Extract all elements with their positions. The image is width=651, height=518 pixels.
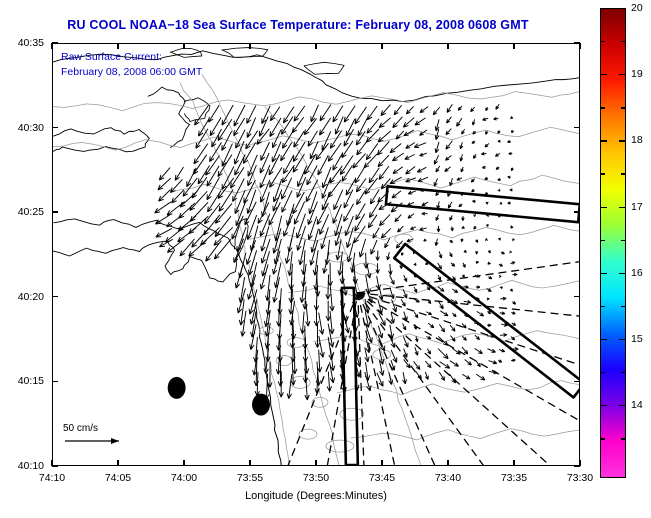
figure-title: RU COOL NOAA−18 Sea Surface Temperature:… bbox=[0, 18, 596, 32]
current-vector bbox=[435, 239, 438, 246]
current-vector bbox=[501, 252, 505, 254]
current-vector bbox=[390, 275, 394, 284]
current-vector bbox=[405, 154, 415, 159]
shipping-lane-dashed-7 bbox=[358, 293, 445, 465]
current-vector bbox=[294, 131, 304, 147]
current-vector bbox=[487, 298, 489, 300]
current-vector bbox=[498, 130, 500, 133]
current-vector bbox=[511, 312, 515, 314]
current-vector bbox=[248, 250, 256, 275]
current-vector bbox=[371, 240, 377, 254]
current-vector bbox=[508, 202, 511, 204]
current-vector bbox=[308, 131, 317, 146]
current-vector bbox=[448, 202, 452, 208]
current-vector bbox=[379, 118, 390, 128]
current-vector bbox=[281, 117, 293, 135]
current-vector bbox=[472, 189, 475, 192]
y-axis-label: 40:25 bbox=[0, 206, 44, 218]
current-vector bbox=[269, 202, 280, 225]
current-vector bbox=[420, 153, 427, 156]
current-vector bbox=[320, 104, 331, 120]
current-vector bbox=[463, 263, 465, 268]
x-axis-tick bbox=[513, 43, 514, 49]
current-vector bbox=[461, 239, 463, 242]
x-axis-tick bbox=[579, 43, 580, 49]
current-vector bbox=[439, 372, 444, 380]
current-vector bbox=[450, 325, 455, 331]
current-vector bbox=[406, 167, 415, 174]
current-vector bbox=[459, 204, 462, 207]
current-vector bbox=[488, 250, 490, 253]
current-vector bbox=[450, 361, 459, 367]
current-vector bbox=[239, 299, 244, 325]
current-vector bbox=[439, 251, 442, 258]
current-vector bbox=[422, 212, 428, 215]
current-vector bbox=[311, 105, 319, 122]
current-vector bbox=[406, 143, 415, 149]
colorbar-minor-tick bbox=[601, 372, 605, 373]
current-vector bbox=[416, 371, 422, 378]
current-vector bbox=[378, 155, 389, 167]
current-vector bbox=[487, 289, 492, 292]
current-vector bbox=[244, 180, 255, 203]
current-vector bbox=[260, 264, 268, 289]
x-axis-tick bbox=[381, 43, 382, 49]
current-vector bbox=[308, 216, 316, 239]
colorbar-minor-tick bbox=[601, 173, 605, 174]
current-vector bbox=[236, 130, 245, 148]
current-vector bbox=[445, 167, 451, 172]
current-vector bbox=[450, 215, 453, 220]
current-vector bbox=[460, 154, 463, 161]
current-vector bbox=[433, 107, 440, 115]
current-vector bbox=[499, 349, 505, 352]
current-vector bbox=[512, 323, 516, 326]
current-vector bbox=[344, 106, 355, 122]
current-vector bbox=[487, 349, 495, 353]
current-vector bbox=[342, 165, 352, 181]
shoal-contour-1 bbox=[312, 397, 328, 407]
current-vector bbox=[410, 227, 415, 230]
current-vector bbox=[485, 143, 489, 147]
colorbar-label: 18 bbox=[631, 134, 643, 146]
current-vector bbox=[406, 106, 413, 114]
x-axis-label: 73:40 bbox=[435, 472, 461, 484]
current-vector bbox=[369, 203, 378, 218]
current-vector bbox=[408, 191, 415, 194]
current-vector bbox=[389, 264, 393, 275]
colorbar-minor-tick bbox=[601, 306, 605, 307]
current-vector bbox=[261, 226, 269, 251]
colorbar-tick bbox=[601, 273, 607, 274]
current-vector bbox=[462, 275, 464, 278]
colorbar-minor-tick bbox=[621, 41, 625, 42]
current-vector bbox=[379, 214, 390, 225]
current-vector bbox=[428, 323, 434, 328]
current-vector bbox=[328, 337, 333, 360]
colorbar-tick bbox=[601, 8, 607, 9]
colorbar-label: 20 bbox=[631, 2, 643, 14]
current-vector bbox=[156, 228, 172, 237]
current-vector bbox=[446, 129, 451, 135]
colorbar-tick bbox=[619, 405, 625, 406]
colorbar-label: 16 bbox=[631, 267, 643, 279]
current-vector bbox=[496, 167, 499, 170]
current-vector bbox=[426, 312, 431, 315]
current-vector bbox=[187, 168, 196, 187]
current-vector bbox=[356, 178, 366, 192]
current-vector bbox=[509, 152, 513, 154]
current-vector bbox=[178, 216, 196, 231]
x-axis-title: Longitude (Degrees:Minutes) bbox=[52, 490, 580, 502]
current-vector bbox=[486, 107, 488, 111]
current-vector bbox=[167, 215, 183, 227]
current-vector bbox=[460, 142, 463, 149]
current-vector bbox=[471, 107, 475, 112]
colorbar-minor-tick bbox=[621, 438, 625, 439]
current-vector bbox=[356, 204, 366, 220]
current-vector bbox=[358, 118, 367, 136]
current-vector bbox=[321, 227, 328, 249]
current-vector bbox=[401, 299, 405, 306]
y-axis-title-wrap: Latitude (Degrees:Minutes) bbox=[0, 135, 144, 155]
current-vector bbox=[403, 323, 406, 330]
current-vector bbox=[364, 154, 377, 168]
x-axis-tick bbox=[249, 43, 250, 49]
current-vector bbox=[427, 349, 430, 354]
colorbar-tick bbox=[601, 207, 607, 208]
current-vector bbox=[396, 131, 404, 139]
current-vector bbox=[485, 238, 487, 240]
colorbar-tick bbox=[619, 207, 625, 208]
current-vector bbox=[273, 228, 281, 253]
current-vector bbox=[512, 273, 517, 276]
harbor-island bbox=[184, 98, 210, 122]
current-vector bbox=[377, 141, 389, 155]
y-axis-tick bbox=[52, 211, 58, 212]
radar-station-marker-0 bbox=[168, 377, 186, 399]
current-vector bbox=[389, 372, 393, 384]
current-vector bbox=[436, 166, 440, 172]
current-vector bbox=[426, 336, 431, 339]
current-vector bbox=[414, 361, 420, 369]
current-vector bbox=[435, 142, 439, 153]
current-vector bbox=[471, 179, 475, 182]
current-vector bbox=[499, 264, 503, 266]
bathymetry-contour-2 bbox=[265, 107, 421, 465]
colorbar-label: 15 bbox=[631, 333, 643, 345]
hudson-arthurkill-coast bbox=[148, 87, 189, 147]
y-axis-label: 40:20 bbox=[0, 291, 44, 303]
current-vector bbox=[476, 261, 479, 263]
current-vector bbox=[378, 326, 382, 338]
current-vector bbox=[306, 301, 310, 326]
current-vector bbox=[461, 167, 464, 172]
current-vector bbox=[261, 239, 270, 263]
map-plot-area: Raw Surface Current: February 08, 2008 0… bbox=[52, 43, 580, 466]
x-axis-tick bbox=[513, 460, 514, 466]
colorbar-label: 17 bbox=[631, 201, 643, 213]
x-axis-label: 73:45 bbox=[369, 472, 395, 484]
shipping-lane-dashed-8 bbox=[358, 293, 373, 465]
y-axis-tick bbox=[574, 296, 580, 297]
current-vector bbox=[330, 311, 334, 334]
current-vector bbox=[403, 372, 407, 384]
current-vector bbox=[235, 154, 245, 175]
current-vector bbox=[293, 192, 305, 214]
current-vector bbox=[155, 202, 171, 213]
current-vector bbox=[451, 227, 453, 231]
y-axis-tick bbox=[52, 381, 58, 382]
y-axis-tick bbox=[52, 465, 58, 466]
current-vector bbox=[365, 372, 371, 391]
current-vector bbox=[482, 166, 486, 168]
shoal-contour-9 bbox=[395, 234, 413, 244]
current-vector bbox=[511, 359, 515, 361]
current-vector bbox=[472, 141, 475, 144]
current-vector bbox=[498, 360, 501, 363]
current-vector bbox=[283, 107, 293, 123]
current-vector bbox=[446, 141, 452, 149]
current-vector bbox=[385, 238, 390, 248]
current-vector bbox=[511, 168, 513, 171]
x-axis-label: 73:30 bbox=[567, 472, 593, 484]
current-vector bbox=[489, 361, 497, 364]
current-vector bbox=[500, 202, 502, 204]
sst-current-map-figure: RU COOL NOAA−18 Sea Surface Temperature:… bbox=[0, 0, 651, 518]
current-vector bbox=[390, 288, 394, 299]
current-vector bbox=[447, 117, 452, 123]
current-vector bbox=[438, 337, 447, 346]
current-vector bbox=[317, 203, 328, 224]
current-vector bbox=[261, 142, 270, 160]
current-vector bbox=[483, 118, 488, 121]
current-vector bbox=[464, 250, 467, 252]
shoal-contour-11 bbox=[287, 338, 305, 348]
current-vector bbox=[427, 287, 430, 291]
current-vector bbox=[394, 105, 401, 115]
y-axis-tick bbox=[574, 127, 580, 128]
y-axis-tick bbox=[574, 381, 580, 382]
current-vector bbox=[464, 286, 469, 289]
current-vector bbox=[319, 313, 324, 335]
current-vector bbox=[381, 228, 390, 238]
current-vector bbox=[457, 178, 462, 180]
current-vector bbox=[415, 336, 418, 342]
x-axis-tick bbox=[183, 460, 184, 466]
colorbar-tick bbox=[619, 273, 625, 274]
current-vector bbox=[486, 202, 489, 204]
current-vector bbox=[440, 311, 448, 316]
current-vector bbox=[403, 289, 407, 298]
current-vector bbox=[414, 287, 417, 292]
colorbar-tick bbox=[619, 74, 625, 75]
current-vector bbox=[243, 142, 255, 163]
current-vector bbox=[195, 105, 209, 125]
current-vector bbox=[476, 251, 478, 254]
current-vector bbox=[499, 275, 501, 277]
x-axis-label: 73:50 bbox=[303, 472, 329, 484]
current-vector bbox=[485, 177, 488, 179]
current-vector bbox=[507, 140, 510, 142]
current-vector bbox=[462, 216, 465, 221]
current-vector bbox=[452, 348, 460, 354]
current-vector bbox=[278, 288, 282, 314]
current-vector bbox=[365, 362, 369, 380]
current-vector bbox=[398, 226, 404, 232]
y-axis-label: 40:35 bbox=[0, 37, 44, 49]
current-vector bbox=[420, 228, 427, 231]
current-vector bbox=[462, 374, 470, 379]
current-vector bbox=[457, 118, 462, 126]
current-vector bbox=[462, 336, 466, 340]
current-vector bbox=[424, 239, 427, 241]
current-vector bbox=[246, 240, 255, 264]
current-vector bbox=[367, 106, 377, 120]
current-vector bbox=[475, 335, 480, 340]
bathymetry-contour-3 bbox=[53, 92, 579, 111]
current-vector bbox=[198, 119, 209, 136]
current-vector bbox=[414, 263, 416, 266]
current-vector bbox=[500, 334, 507, 337]
x-axis-tick bbox=[447, 43, 448, 49]
current-vector bbox=[450, 374, 456, 383]
current-vector bbox=[450, 336, 455, 342]
current-vector bbox=[273, 277, 280, 302]
current-vector bbox=[474, 214, 476, 216]
current-vector bbox=[297, 177, 306, 197]
current-vector bbox=[434, 155, 438, 164]
current-vector bbox=[175, 167, 183, 180]
current-vector bbox=[438, 275, 441, 280]
colorbar-minor-tick bbox=[601, 41, 605, 42]
current-vector bbox=[403, 118, 414, 128]
current-vector bbox=[282, 165, 294, 183]
colorbar-title-wrap: Temperature (°C) bbox=[560, 235, 651, 251]
current-vector bbox=[508, 176, 511, 178]
x-axis-label: 73:55 bbox=[237, 472, 263, 484]
x-axis-tick bbox=[117, 43, 118, 49]
coastline-island bbox=[304, 62, 344, 74]
current-vector bbox=[452, 289, 457, 292]
current-vector bbox=[476, 361, 480, 367]
current-vector bbox=[511, 130, 513, 133]
current-vector bbox=[488, 276, 492, 278]
current-vector bbox=[387, 252, 390, 260]
current-vector bbox=[486, 131, 488, 135]
x-axis-label: 74:10 bbox=[39, 472, 65, 484]
current-vector bbox=[404, 275, 407, 282]
current-vector bbox=[438, 349, 448, 359]
current-vector bbox=[300, 312, 304, 334]
current-vector bbox=[475, 240, 477, 243]
current-vector bbox=[512, 301, 515, 304]
current-vector bbox=[449, 252, 452, 257]
current-vector bbox=[414, 143, 426, 148]
y-axis-tick bbox=[52, 42, 58, 43]
current-vector bbox=[451, 263, 455, 266]
current-vector bbox=[159, 168, 170, 181]
current-vector bbox=[209, 105, 220, 122]
current-vector bbox=[326, 275, 330, 300]
current-vector bbox=[393, 167, 403, 174]
current-vector bbox=[498, 189, 500, 191]
current-vector bbox=[438, 287, 444, 291]
current-vector bbox=[509, 251, 511, 253]
current-vector bbox=[510, 289, 512, 292]
current-vector bbox=[477, 311, 484, 316]
colorbar-label: 14 bbox=[631, 399, 643, 411]
current-vector bbox=[500, 312, 505, 315]
current-vector bbox=[366, 129, 379, 142]
current-vector bbox=[464, 300, 471, 303]
x-axis-label: 73:35 bbox=[501, 472, 527, 484]
y-axis-label: 40:15 bbox=[0, 375, 44, 387]
current-vector bbox=[436, 215, 439, 221]
current-vector bbox=[417, 167, 426, 172]
current-vector bbox=[498, 140, 501, 142]
current-vector bbox=[476, 374, 485, 380]
current-vector bbox=[392, 191, 401, 198]
x-axis-label: 74:00 bbox=[171, 472, 197, 484]
x-axis-tick bbox=[315, 460, 316, 466]
current-vector bbox=[440, 362, 450, 369]
current-vector bbox=[475, 348, 483, 353]
shipping-lane-dashed-0 bbox=[358, 235, 579, 293]
long-island-coastline bbox=[53, 51, 579, 102]
y-axis-tick bbox=[52, 296, 58, 297]
current-vector bbox=[395, 214, 401, 221]
current-vector bbox=[415, 118, 426, 125]
current-vector bbox=[381, 105, 390, 116]
current-vector bbox=[488, 262, 491, 264]
current-vector bbox=[357, 191, 366, 205]
current-vector bbox=[304, 119, 316, 135]
current-vector bbox=[476, 286, 480, 289]
current-vector bbox=[232, 216, 243, 239]
current-vector bbox=[407, 202, 413, 205]
current-vector bbox=[422, 202, 428, 205]
current-vector bbox=[481, 152, 486, 155]
current-vector bbox=[434, 178, 437, 186]
colorbar-label: 19 bbox=[631, 68, 643, 80]
x-axis-tick bbox=[51, 43, 52, 49]
current-vector bbox=[367, 264, 371, 278]
current-vector bbox=[494, 117, 499, 120]
colorbar-minor-tick bbox=[601, 438, 605, 439]
current-vector bbox=[445, 155, 451, 160]
current-vector bbox=[318, 155, 328, 175]
scale-legend-label: 50 cm/s bbox=[63, 423, 153, 434]
x-axis-label: 74:05 bbox=[105, 472, 131, 484]
current-vector bbox=[257, 129, 270, 145]
y-axis-tick bbox=[574, 211, 580, 212]
colorbar-minor-tick bbox=[621, 372, 625, 373]
colorbar-tick bbox=[601, 140, 607, 141]
y-axis-tick bbox=[574, 465, 580, 466]
current-vector bbox=[315, 323, 319, 347]
current-vector bbox=[346, 179, 355, 195]
traffic-lane-southeast bbox=[394, 244, 579, 397]
current-vector bbox=[326, 301, 330, 321]
current-vector bbox=[415, 347, 418, 355]
current-vector bbox=[439, 324, 444, 332]
colorbar-tick bbox=[601, 405, 607, 406]
colorbar-tick bbox=[619, 140, 625, 141]
y-axis-tick bbox=[52, 127, 58, 128]
current-vector bbox=[392, 153, 403, 161]
current-vector bbox=[512, 239, 514, 241]
